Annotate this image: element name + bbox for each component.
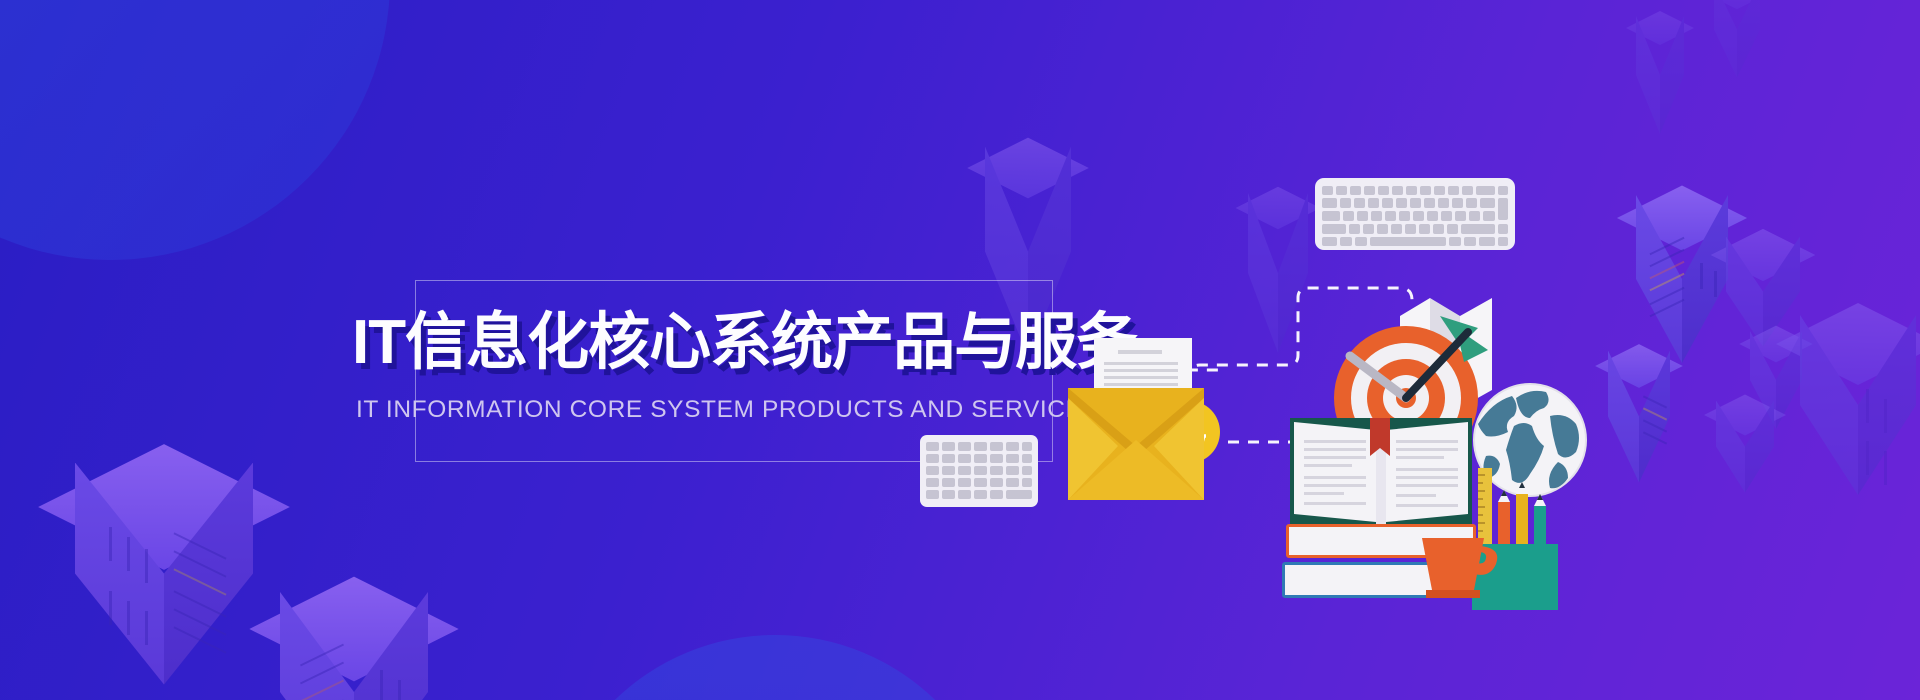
hero-illustration bbox=[1100, 120, 1620, 570]
hero-banner: IT信息化核心系统产品与服务 IT INFORMATION CORE SYSTE… bbox=[0, 0, 1920, 700]
open-book-icon bbox=[1290, 418, 1472, 540]
decorative-circle-top-left bbox=[0, 0, 390, 260]
coffee-cup-icon bbox=[1422, 538, 1500, 598]
keyboard-keys bbox=[1322, 186, 1508, 242]
keyboard-keys bbox=[926, 442, 1032, 500]
pencil-icon bbox=[1516, 482, 1528, 552]
page-title: IT信息化核心系统产品与服务 bbox=[352, 310, 1132, 375]
decorative-circle-bottom-center bbox=[545, 635, 1005, 700]
computer-keyboard-small bbox=[920, 435, 1038, 507]
computer-keyboard-large bbox=[1315, 178, 1515, 250]
envelope-icon bbox=[1068, 388, 1204, 500]
page-subtitle: IT INFORMATION CORE SYSTEM PRODUCTS AND … bbox=[356, 396, 1136, 424]
